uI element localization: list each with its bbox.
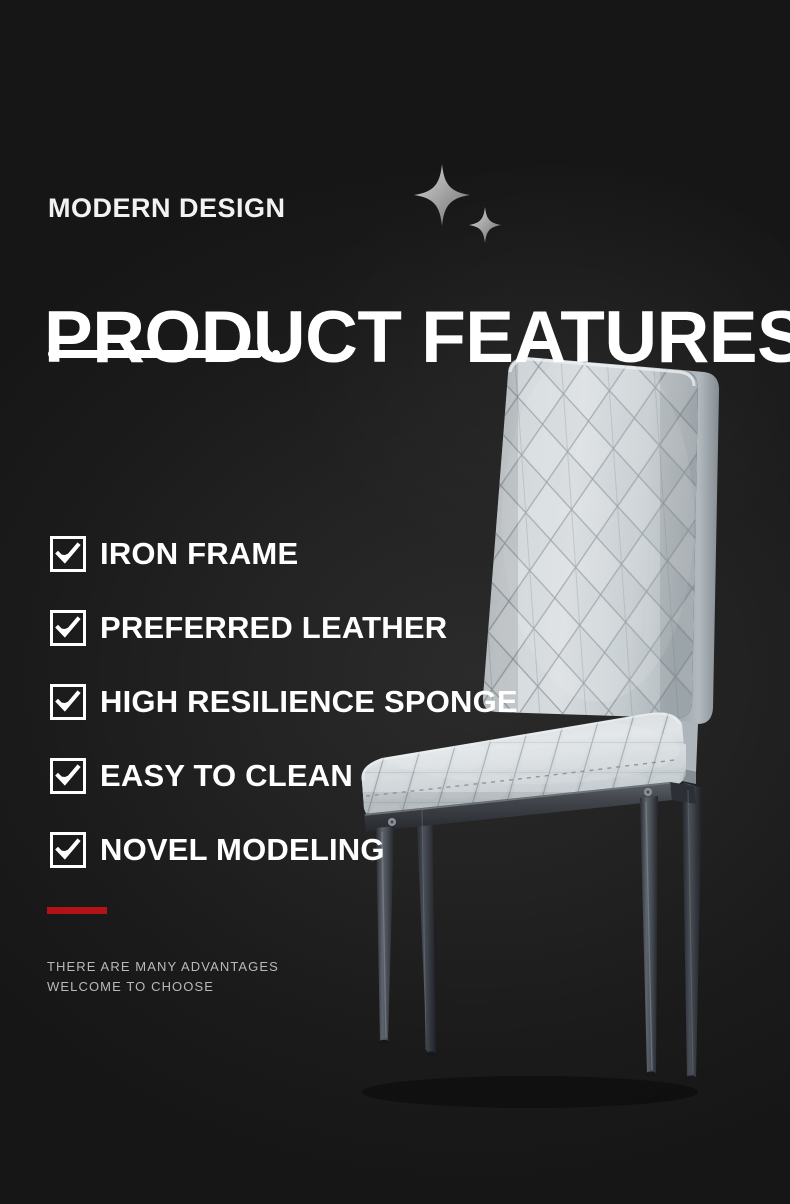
list-item: IRON FRAME bbox=[50, 531, 518, 577]
feature-label: IRON FRAME bbox=[100, 536, 298, 572]
feature-list: IRON FRAME PREFERRED LEATHER HIGH RESILI… bbox=[50, 531, 518, 901]
checkbox-checked-icon bbox=[50, 684, 86, 720]
footer-accent-bar bbox=[47, 907, 107, 914]
feature-label: HIGH RESILIENCE SPONGE bbox=[100, 684, 518, 720]
checkbox-checked-icon bbox=[50, 610, 86, 646]
list-item: EASY TO CLEAN bbox=[50, 753, 518, 799]
eyebrow-text: MODERN DESIGN bbox=[48, 193, 286, 224]
feature-label: PREFERRED LEATHER bbox=[100, 610, 447, 646]
footer-line-1: THERE ARE MANY ADVANTAGES bbox=[47, 957, 279, 977]
feature-label: NOVEL MODELING bbox=[100, 832, 385, 868]
page-title: PRODUCT FEATURES bbox=[44, 301, 790, 374]
title-divider bbox=[48, 350, 280, 358]
checkbox-checked-icon bbox=[50, 536, 86, 572]
list-item: NOVEL MODELING bbox=[50, 827, 518, 873]
footer-line-2: WELCOME TO CHOOSE bbox=[47, 977, 279, 997]
footer-tagline: THERE ARE MANY ADVANTAGES WELCOME TO CHO… bbox=[47, 957, 279, 997]
feature-label: EASY TO CLEAN bbox=[100, 758, 353, 794]
product-feature-poster: MODERN DESIGN PRODUCT FEATURES IRON FRAM… bbox=[0, 0, 790, 1204]
checkbox-checked-icon bbox=[50, 832, 86, 868]
checkbox-checked-icon bbox=[50, 758, 86, 794]
list-item: PREFERRED LEATHER bbox=[50, 605, 518, 651]
list-item: HIGH RESILIENCE SPONGE bbox=[50, 679, 518, 725]
divider-bar bbox=[48, 350, 262, 358]
divider-dot bbox=[272, 350, 280, 358]
